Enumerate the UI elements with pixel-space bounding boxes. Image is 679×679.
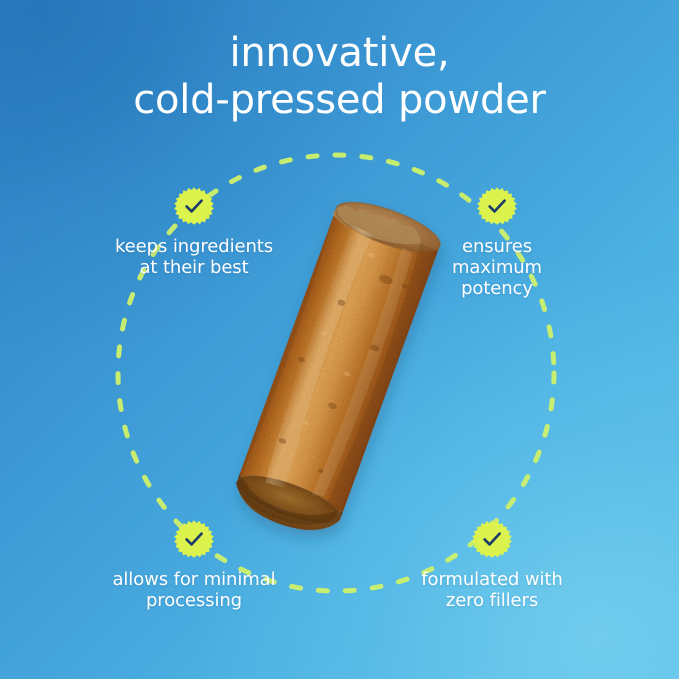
feature-minimal-processing[interactable]: allows for minimal processing xyxy=(89,519,299,611)
check-badge-icon xyxy=(472,519,512,559)
feature-label: ensures maximum potency xyxy=(392,236,602,299)
headline-line-1: innovative, xyxy=(0,30,679,77)
feature-zero-fillers[interactable]: formulated with zero fillers xyxy=(387,519,597,611)
page-title: innovative, cold-pressed powder xyxy=(0,30,679,124)
feature-label: allows for minimal processing xyxy=(89,569,299,611)
infographic-canvas: innovative, cold-pressed powder xyxy=(0,0,679,679)
feature-label: keeps ingredients at their best xyxy=(89,236,299,278)
check-badge-icon xyxy=(174,186,214,226)
feature-keeps-ingredients[interactable]: keeps ingredients at their best xyxy=(89,186,299,278)
feature-ensures-potency[interactable]: ensures maximum potency xyxy=(392,186,602,299)
check-badge-icon xyxy=(477,186,517,226)
feature-label: formulated with zero fillers xyxy=(387,569,597,611)
headline-line-2: cold-pressed powder xyxy=(0,77,679,124)
check-badge-icon xyxy=(174,519,214,559)
